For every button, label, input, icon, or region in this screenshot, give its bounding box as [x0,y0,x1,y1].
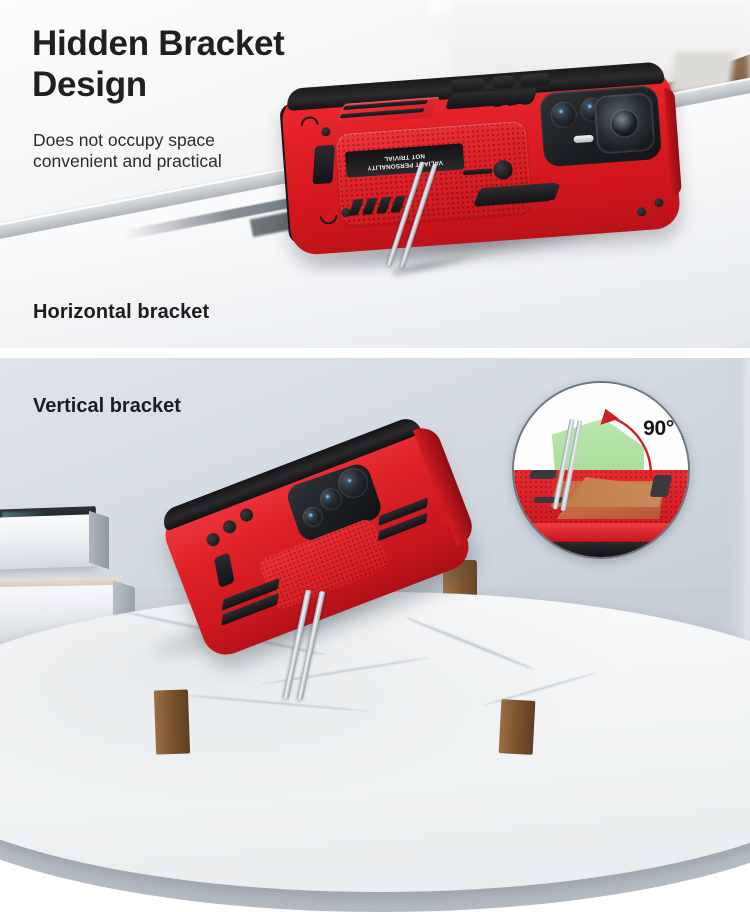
product-feature-page: VALIANT PERSONALITY NOT TRIVIAL [0,0,750,750]
angle-value-label: 90° [643,417,674,441]
subtitle-line-2: convenient and practical [33,151,363,172]
camera-module [539,85,662,167]
kickstand-pivot-knob [493,160,513,180]
headline-line-1: Hidden Bracket [32,24,412,65]
lens-highlight [346,477,352,483]
table-leg-right [499,699,536,755]
subtitle-line-1: Does not occupy space [33,130,363,151]
page-title: Hidden Bracket Design [32,24,412,105]
book-top [0,514,97,570]
page-subtitle: Does not occupy space convenient and pra… [33,130,363,173]
book-top-side [89,511,109,569]
volume-button [450,78,485,92]
marble-vein [180,694,369,713]
marble-vein [405,616,536,671]
caption-horizontal-bracket: Horizontal bracket [33,301,209,324]
lens-highlight [558,109,563,114]
kickstand-slot [463,168,493,175]
volume-button [492,75,515,89]
angle-arc-arrow [514,383,688,557]
headline-line-2: Design [32,65,412,106]
angle-callout-inset: 90° [512,381,690,559]
lens-highlight [587,104,592,109]
camera-lens-secondary [300,504,325,529]
camera-lens-secondary [550,101,578,129]
marble-table-top [0,592,750,892]
table-leg-left [154,689,190,754]
top-panel-horizontal-bracket: VALIANT PERSONALITY NOT TRIVIAL [0,0,750,348]
lens-highlight [307,512,313,518]
caption-vertical-bracket: Vertical bracket [33,395,181,418]
lens-highlight [324,493,330,499]
marble-vein [482,672,598,707]
camera-flash [573,135,593,143]
power-button [520,73,551,87]
camera-lens-main [594,92,656,154]
